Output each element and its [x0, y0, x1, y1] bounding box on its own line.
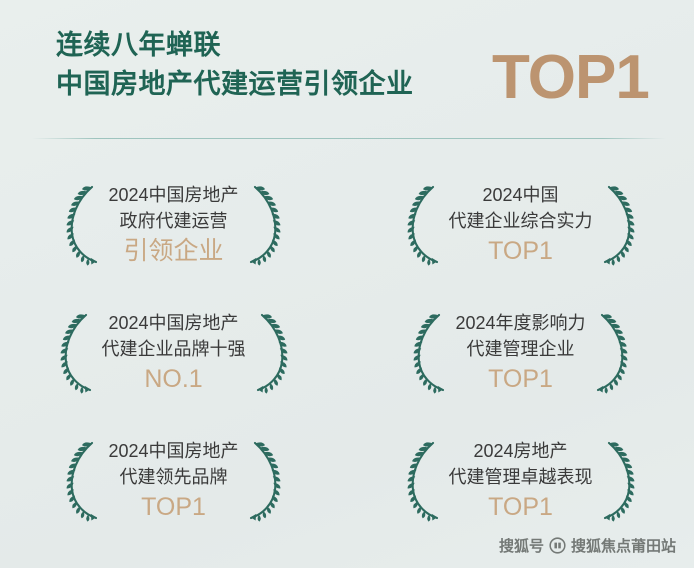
laurel-wreath-left-icon	[403, 180, 445, 268]
award-badge-text: 2024房地产 代建管理卓越表现 TOP1	[447, 438, 595, 523]
laurel-wreath-left-icon	[62, 180, 104, 268]
watermark-prefix: 搜狐号	[499, 535, 544, 556]
header-title-block: 连续八年蝉联 中国房地产代建运营引领企业	[56, 28, 526, 102]
award-badge-line-1: 2024中国	[449, 182, 593, 208]
award-badge-rank: TOP1	[455, 363, 585, 395]
watermark: 搜狐号 搜狐焦点莆田站	[499, 535, 676, 556]
award-badge-line-2: 代建管理企业	[455, 336, 585, 362]
award-badge: 2024中国房地产 代建企业品牌十强 NO.1	[0, 288, 347, 416]
award-badge-rank: TOP1	[449, 491, 593, 523]
laurel-wreath-left-icon	[409, 308, 451, 396]
laurel-wreath-left-icon	[62, 436, 104, 524]
award-badge-line-1: 2024中国房地产	[108, 182, 238, 208]
award-badge-text: 2024中国房地产 政府代建运营 引领企业	[106, 182, 240, 267]
award-badge-line-2: 政府代建运营	[108, 208, 238, 234]
laurel-wreath-right-icon	[590, 308, 632, 396]
laurel-wreath-right-icon	[597, 436, 639, 524]
award-badge-line-2: 代建企业品牌十强	[102, 336, 246, 362]
laurel-wreath-right-icon	[243, 436, 285, 524]
award-badge: 2024中国房地产 政府代建运营 引领企业	[0, 160, 347, 288]
laurel-wreath-right-icon	[243, 180, 285, 268]
header: 连续八年蝉联 中国房地产代建运营引领企业 TOP1	[0, 0, 694, 140]
award-badge-line-2: 代建企业综合实力	[449, 208, 593, 234]
award-badge-line-2: 代建管理卓越表现	[449, 464, 593, 490]
award-badge-text: 2024年度影响力 代建管理企业 TOP1	[453, 310, 587, 395]
award-badge-line-1: 2024年度影响力	[455, 310, 585, 336]
header-divider	[32, 138, 666, 139]
laurel-wreath-right-icon	[597, 180, 639, 268]
laurel-wreath-right-icon	[250, 308, 292, 396]
award-badge-line-1: 2024房地产	[449, 438, 593, 464]
award-badge: 2024房地产 代建管理卓越表现 TOP1	[347, 416, 694, 544]
award-badge-line-1: 2024中国房地产	[102, 310, 246, 336]
award-badge-line-2: 代建领先品牌	[108, 464, 238, 490]
award-badge: 2024中国房地产 代建领先品牌 TOP1	[0, 416, 347, 544]
award-badge-rank: 引领企业	[108, 235, 238, 267]
laurel-wreath-left-icon	[56, 308, 98, 396]
award-badge-grid: 2024中国房地产 政府代建运营 引领企业	[0, 160, 694, 550]
award-badge-line-1: 2024中国房地产	[108, 438, 238, 464]
award-badge-text: 2024中国房地产 代建领先品牌 TOP1	[106, 438, 240, 523]
award-badge: 2024中国 代建企业综合实力 TOP1	[347, 160, 694, 288]
header-top1-label: TOP1	[492, 42, 649, 114]
award-badge-text: 2024中国 代建企业综合实力 TOP1	[447, 182, 595, 267]
award-badge-rank: TOP1	[449, 235, 593, 267]
header-line-1: 连续八年蝉联	[56, 28, 526, 62]
poster-root: 连续八年蝉联 中国房地产代建运营引领企业 TOP1	[0, 0, 694, 568]
sohu-logo-icon	[549, 537, 566, 554]
watermark-suffix: 搜狐焦点莆田站	[571, 535, 676, 556]
header-line-2: 中国房地产代建运营引领企业	[56, 66, 526, 102]
laurel-wreath-left-icon	[403, 436, 445, 524]
award-badge-rank: NO.1	[102, 363, 246, 395]
award-badge-rank: TOP1	[108, 491, 238, 523]
award-badge: 2024年度影响力 代建管理企业 TOP1	[347, 288, 694, 416]
award-badge-text: 2024中国房地产 代建企业品牌十强 NO.1	[100, 310, 248, 395]
